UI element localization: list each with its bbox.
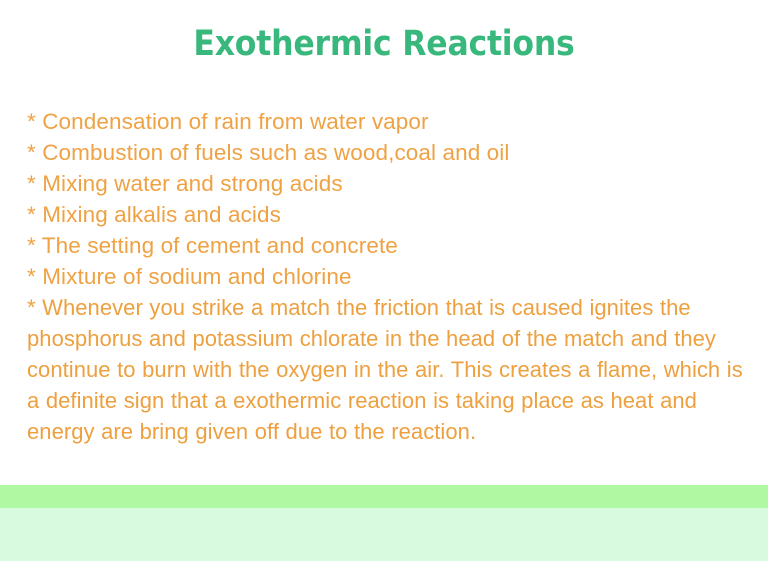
- bullet-item: * Condensation of rain from water vapor: [27, 106, 757, 137]
- slide: Exothermic Reactions * Condensation of r…: [0, 0, 768, 561]
- footer-band-pale: [0, 508, 768, 561]
- bullet-item: * Combustion of fuels such as wood,coal …: [27, 137, 757, 168]
- slide-title: Exothermic Reactions: [0, 22, 768, 66]
- footer-band-bright: [0, 485, 768, 508]
- bullet-item: * Mixture of sodium and chlorine: [27, 261, 757, 292]
- bullet-item: * Mixing alkalis and acids: [27, 199, 757, 230]
- bullet-paragraph: * Whenever you strike a match the fricti…: [27, 292, 760, 447]
- slide-body: * Condensation of rain from water vapor …: [27, 106, 757, 447]
- bullet-item: * Mixing water and strong acids: [27, 168, 757, 199]
- bullet-item: * The setting of cement and concrete: [27, 230, 757, 261]
